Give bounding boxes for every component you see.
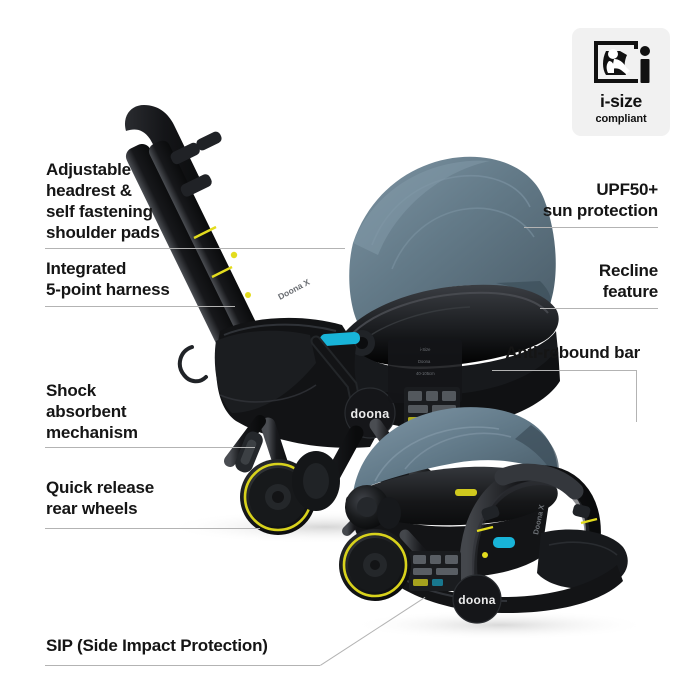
callout-anti-rebound-bar: Anti-rebound bar <box>505 343 640 364</box>
leader-line-recline-feature <box>540 308 658 309</box>
callout-line: sun protection <box>543 201 658 222</box>
callout-side-impact-protection: SIP (Side Impact Protection) <box>46 636 268 657</box>
callout-line: mechanism <box>46 423 138 444</box>
svg-text:doona: doona <box>458 593 496 607</box>
callout-line: headrest & <box>46 181 160 202</box>
callout-line: shoulder pads <box>46 223 160 244</box>
isize-car-seat-icon <box>590 37 652 87</box>
carseat-illustration: Doona X <box>335 385 675 645</box>
isize-badge-title: i-size <box>600 91 642 112</box>
cyan-release-button <box>493 537 515 548</box>
yellow-accent-marks <box>455 489 477 496</box>
callout-line: SIP (Side Impact Protection) <box>46 636 268 657</box>
doona-logo-badge: doona <box>453 575 501 623</box>
svg-text:i-Size: i-Size <box>420 347 431 352</box>
leader-line-adjustable-headrest <box>45 248 345 249</box>
svg-text:Doona: Doona <box>418 359 431 364</box>
callout-line: Recline <box>599 261 658 282</box>
rear-wheel <box>339 529 411 601</box>
callout-shock-absorbent: Shock absorbent mechanism <box>46 381 138 444</box>
rear-wheel-far <box>292 451 340 511</box>
callout-upf50-sun-protection: UPF50+ sun protection <box>543 180 658 222</box>
callout-line: UPF50+ <box>543 180 658 201</box>
product-image-carseat-mode: Doona X <box>335 385 675 645</box>
callout-line: feature <box>599 282 658 303</box>
callout-line: rear wheels <box>46 499 154 520</box>
leader-line-sip <box>45 665 320 666</box>
leader-line-anti-rebound-bar <box>492 370 636 371</box>
leader-line-upf50 <box>524 227 658 228</box>
callout-integrated-harness: Integrated 5-point harness <box>46 259 170 301</box>
product-model-label: Doona X <box>276 277 311 302</box>
svg-text:40-105cm: 40-105cm <box>416 371 435 376</box>
leader-line-quick-release-wheels <box>45 528 260 529</box>
callout-adjustable-headrest: Adjustable headrest & self fastening sho… <box>46 160 160 244</box>
callout-line: Quick release <box>46 478 154 499</box>
callout-line: self fastening <box>46 202 160 223</box>
leader-line-integrated-harness <box>45 306 235 307</box>
ground-shadow <box>350 610 650 640</box>
callout-line: 5-point harness <box>46 280 170 301</box>
base-sticker <box>409 551 461 591</box>
leader-line-anti-rebound-bar-drop <box>636 370 637 422</box>
infographic-canvas: Doona X doona <box>0 0 700 700</box>
callout-line: Integrated <box>46 259 170 280</box>
isize-badge-subtitle: compliant <box>595 113 646 125</box>
isize-compliant-badge: i-size compliant <box>572 28 670 136</box>
leader-line-shock-absorbent <box>45 447 255 448</box>
callout-line: Adjustable <box>46 160 160 181</box>
callout-line: Shock <box>46 381 138 402</box>
callout-recline-feature: Recline feature <box>599 261 658 303</box>
callout-quick-release-wheels: Quick release rear wheels <box>46 478 154 520</box>
callout-line: absorbent <box>46 402 138 423</box>
callout-line: Anti-rebound bar <box>505 343 640 364</box>
